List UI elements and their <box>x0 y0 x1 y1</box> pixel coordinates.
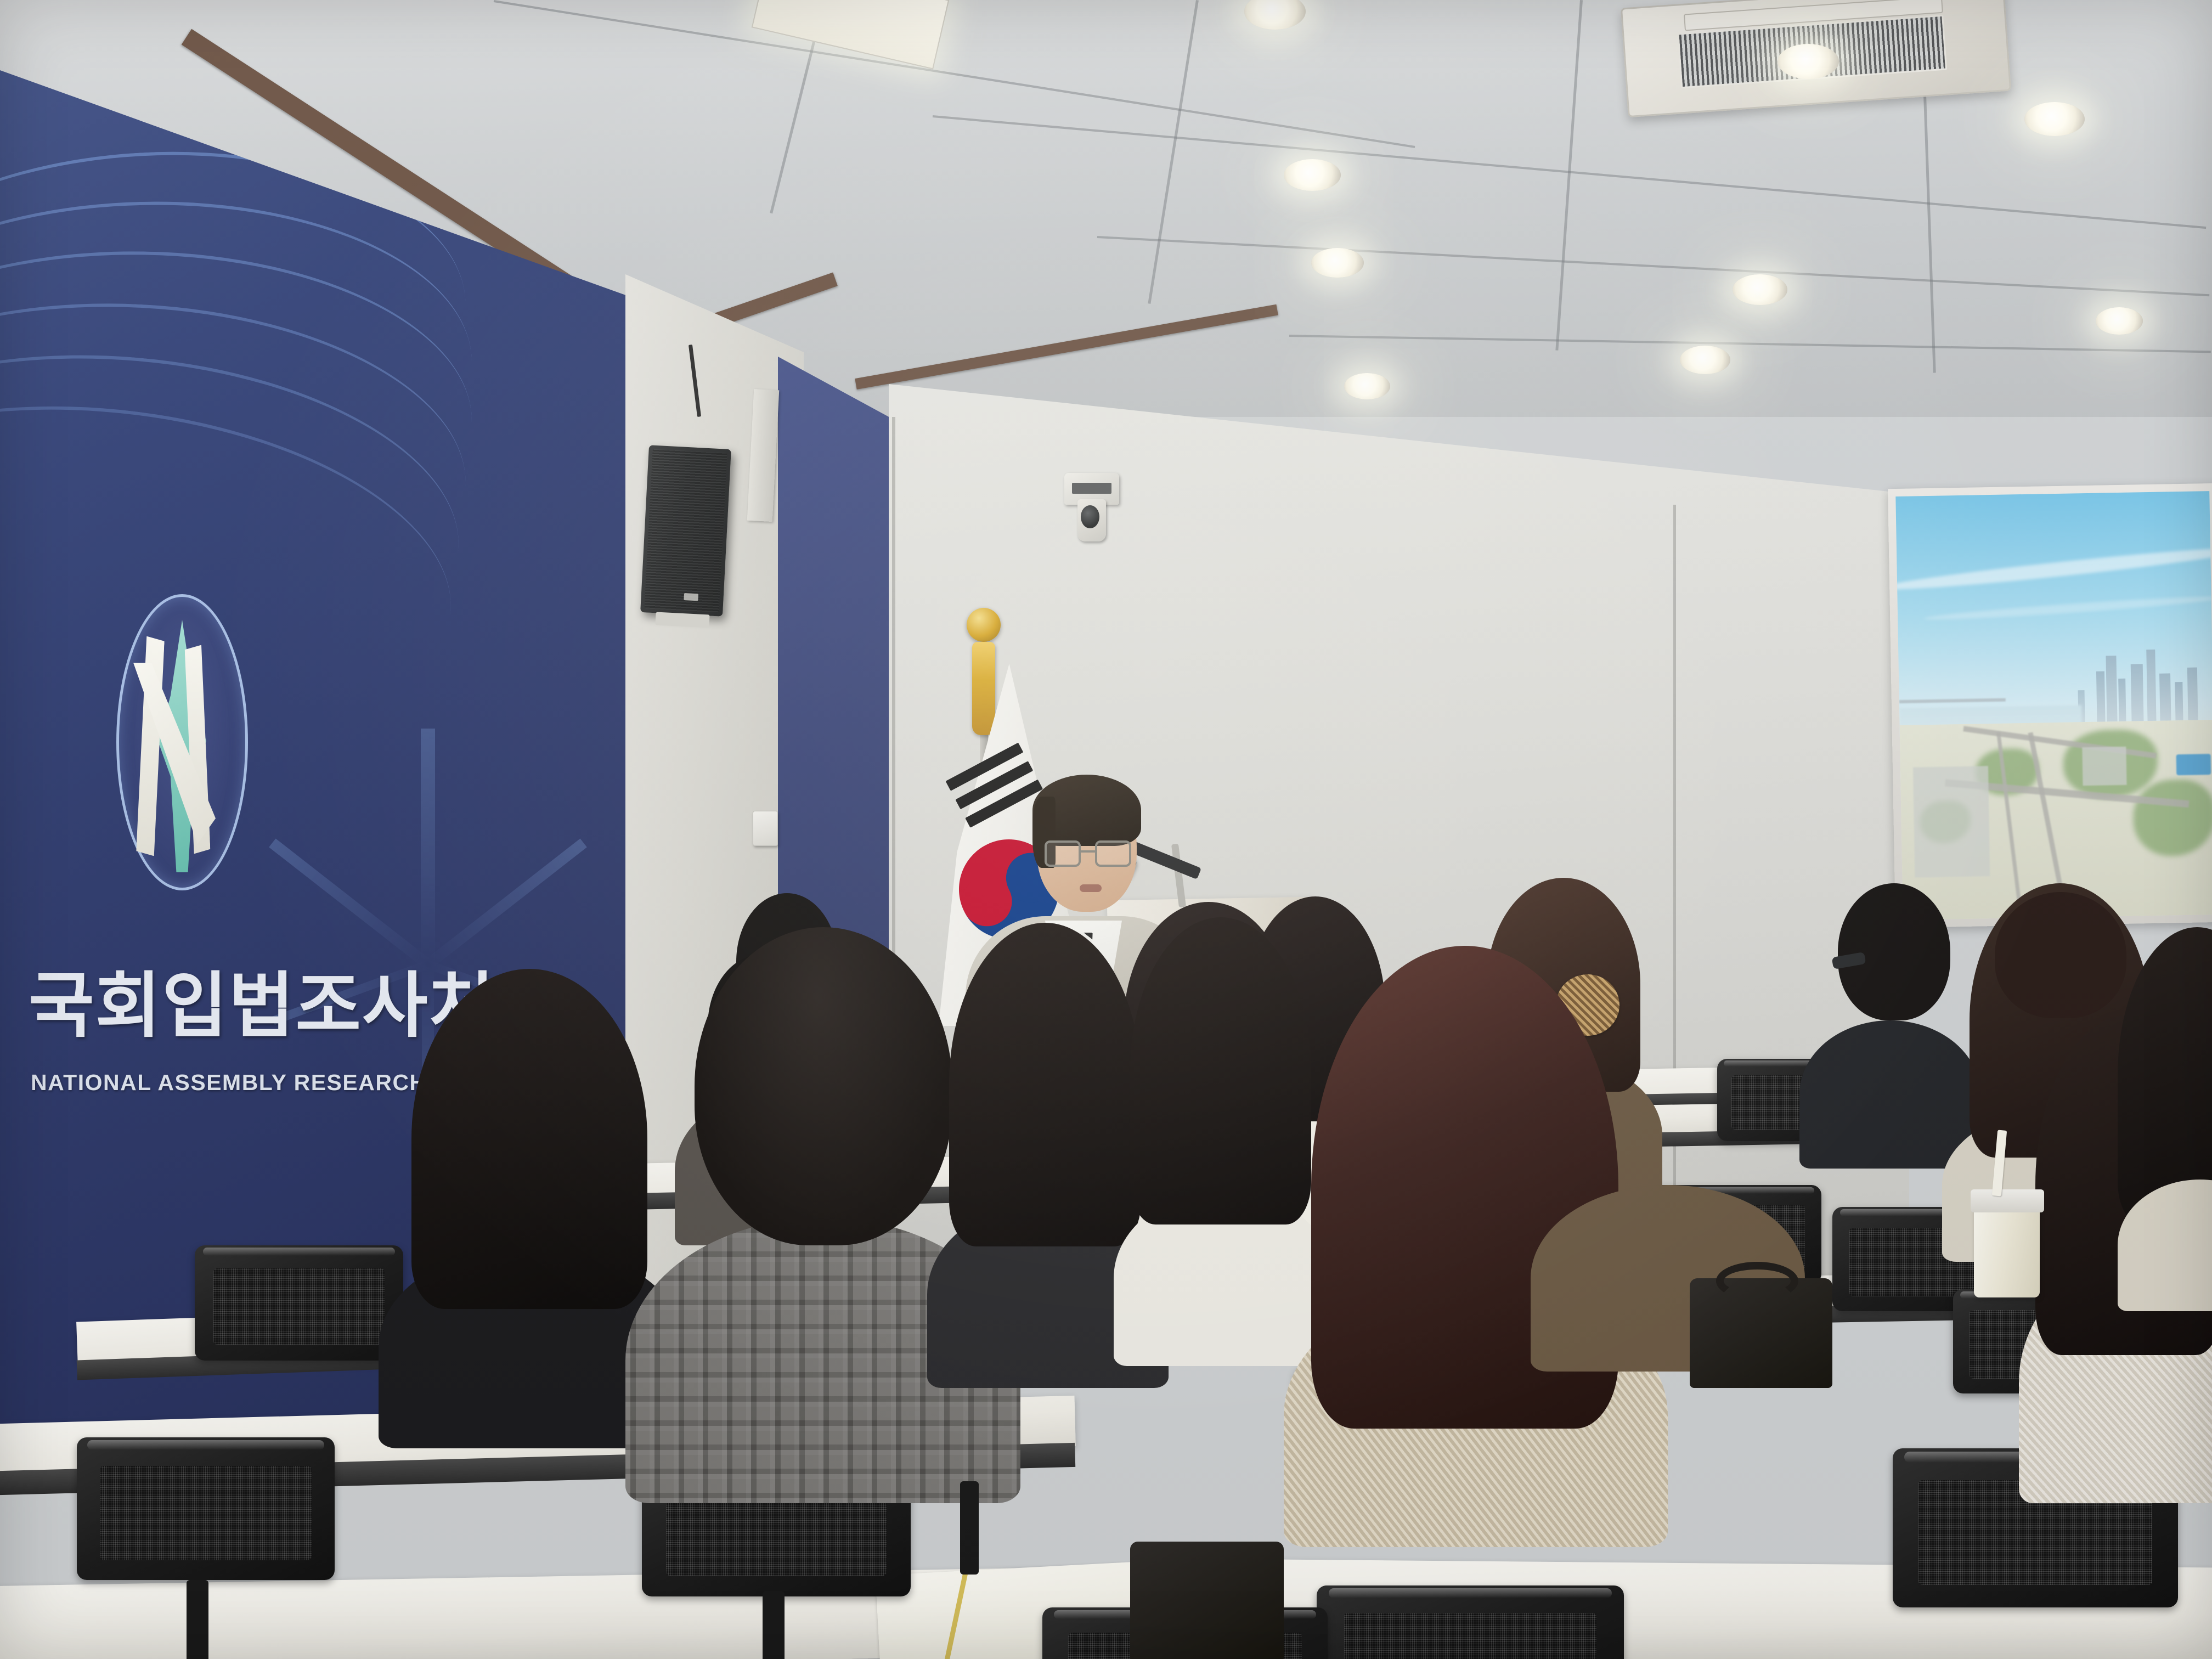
shoulder-bag-2[interactable] <box>1130 1542 1284 1659</box>
downlight-3 <box>1284 159 1341 191</box>
attendee-hair <box>2118 927 2212 1223</box>
ptz-camera <box>1064 473 1119 541</box>
chair-post <box>763 1591 785 1659</box>
attendee-hair <box>411 969 647 1309</box>
downlight-8 <box>2024 102 2085 136</box>
chair-post <box>960 1481 979 1575</box>
bag-strap <box>1716 1262 1798 1300</box>
attendee-head <box>1838 883 1950 1020</box>
attendee-head <box>695 927 952 1245</box>
bridge <box>1899 698 2006 703</box>
downlight-4 <box>1733 274 1787 305</box>
speaker-base-plate <box>655 612 709 628</box>
mesh-back-chair[interactable] <box>1317 1585 1624 1659</box>
downlight-1 <box>1244 0 1306 30</box>
nars-emblem-logo <box>116 594 248 890</box>
downlight-9 <box>2096 307 2143 335</box>
presenter-glasses <box>1045 840 1131 867</box>
flag-tassel <box>972 642 995 735</box>
downlight-7 <box>1344 373 1390 399</box>
flag-finial <box>967 608 1001 642</box>
downlight-5 <box>1311 248 1364 278</box>
cup-lid <box>1971 1189 2044 1212</box>
pa-speaker <box>640 445 731 616</box>
seminar-room-photo: 국회입법조사처 NATIONAL ASSEMBLY RESEARCH SERVI… <box>0 0 2212 1659</box>
downlight-6 <box>1680 346 1730 374</box>
light-switch[interactable] <box>753 811 778 846</box>
downlight-2 <box>1778 44 1839 79</box>
presenter-mouth <box>1080 884 1102 892</box>
attendee-far-right-c <box>2118 922 2212 1306</box>
ceiling-beam-3 <box>855 304 1278 390</box>
mesh-back-chair[interactable] <box>77 1437 335 1580</box>
mesh-back-chair[interactable] <box>195 1245 403 1361</box>
plastic-drink-cup[interactable] <box>1974 1201 2040 1297</box>
attendee-hair <box>949 923 1141 1246</box>
attendee-head <box>1995 892 2126 1018</box>
chair-post <box>187 1580 208 1659</box>
